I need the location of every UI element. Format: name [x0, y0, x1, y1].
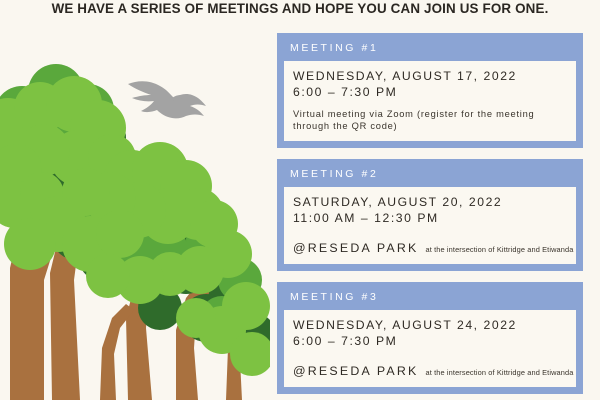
meeting-date: SATURDAY, AUGUST 20, 2022 [293, 195, 567, 211]
meeting-time: 6:00 – 7:30 PM [293, 334, 567, 350]
flying-bird-icon [126, 70, 212, 130]
meeting-venue-name: @RESEDA PARK [293, 241, 419, 255]
flyer-canvas: WE HAVE A SERIES OF MEETINGS AND HOPE YO… [0, 0, 600, 400]
meeting-card-label: MEETING #3 [284, 289, 576, 310]
meeting-venue-detail: at the intersection of Kittridge and Eti… [426, 368, 574, 377]
meeting-card-3[interactable]: MEETING #3 WEDNESDAY, AUGUST 24, 2022 6:… [277, 282, 583, 394]
meeting-time: 11:00 AM – 12:30 PM [293, 211, 567, 227]
meeting-card-label: MEETING #2 [284, 166, 576, 187]
meeting-card-body: WEDNESDAY, AUGUST 17, 2022 6:00 – 7:30 P… [284, 61, 576, 141]
meeting-card-2[interactable]: MEETING #2 SATURDAY, AUGUST 20, 2022 11:… [277, 159, 583, 271]
meeting-venue-row: @RESEDA PARK at the intersection of Kitt… [293, 364, 567, 378]
meetings-list: MEETING #1 WEDNESDAY, AUGUST 17, 2022 6:… [277, 33, 583, 394]
meeting-venue-detail: at the intersection of Kittridge and Eti… [426, 245, 574, 254]
meeting-card-body: SATURDAY, AUGUST 20, 2022 11:00 AM – 12:… [284, 187, 576, 264]
meeting-card-body: WEDNESDAY, AUGUST 24, 2022 6:00 – 7:30 P… [284, 310, 576, 387]
meeting-card-1[interactable]: MEETING #1 WEDNESDAY, AUGUST 17, 2022 6:… [277, 33, 583, 148]
meeting-note: Virtual meeting via Zoom (register for t… [293, 109, 567, 132]
meeting-date: WEDNESDAY, AUGUST 17, 2022 [293, 69, 567, 85]
meeting-venue-name: @RESEDA PARK [293, 364, 419, 378]
meeting-date: WEDNESDAY, AUGUST 24, 2022 [293, 318, 567, 334]
meeting-time: 6:00 – 7:30 PM [293, 85, 567, 101]
meeting-card-label: MEETING #1 [284, 40, 576, 61]
meeting-venue-row: @RESEDA PARK at the intersection of Kitt… [293, 241, 567, 255]
